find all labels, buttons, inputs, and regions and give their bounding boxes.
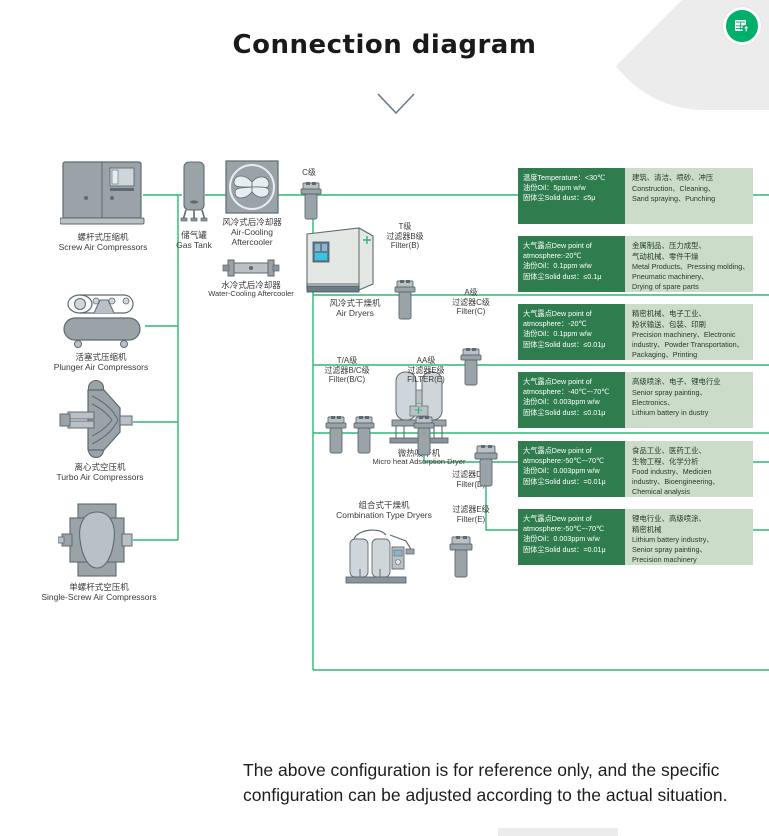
spec-right-6: 锂电行业、高级喷涂、 精密机械 Lithium battery industry… bbox=[625, 509, 753, 565]
spec-right-1: 建筑、清洁、喷砂、冲压 Construction、Cleaning、 Sand … bbox=[625, 168, 753, 224]
label-filter-c-grade: C级 bbox=[288, 168, 330, 178]
label-filter-b: T级 过滤器B级 Filter(B) bbox=[374, 222, 436, 251]
caption-cn: 风冷式干燥机 bbox=[312, 298, 398, 308]
spec-app-en: Sand spraying、Punching bbox=[632, 194, 753, 204]
spec-app-en: Packaging、Printing bbox=[632, 350, 753, 360]
filter-en: FILTER(E) bbox=[396, 375, 456, 385]
filter-grade: T级 bbox=[374, 222, 436, 232]
caption-turbo-air-compressor: 离心式空压机 Turbo Air Compressors bbox=[44, 462, 156, 482]
filter-en: Filter(B) bbox=[374, 241, 436, 251]
spec-app-en: Drying of spare parts bbox=[632, 282, 753, 292]
filter-cn: 过滤器B/C级 bbox=[312, 366, 382, 376]
spec-line: 大气露点Dew point of bbox=[523, 446, 625, 456]
caption-screw-air-compressor: 螺杆式压缩机 Screw Air Compressors bbox=[48, 232, 158, 252]
label-filter-e-aa: AA级 过滤器E级 FILTER(E) bbox=[396, 356, 456, 385]
equipment-air-dryer bbox=[305, 222, 375, 294]
spec-line: 油份Oil：0.003ppm w/w bbox=[523, 534, 625, 544]
spec-app-cn: 食品工业、医药工业、 bbox=[632, 446, 753, 457]
filter-grade: AA级 bbox=[396, 356, 456, 366]
spec-line: 油份Oil：0.003ppm w/w bbox=[523, 397, 625, 407]
spec-left-6: 大气露点Dew point of atmosphere:-50℃~-70℃ 油份… bbox=[518, 509, 625, 565]
spec-line: atmosphere:-50℃~-70℃ bbox=[523, 456, 625, 466]
spec-line: 油份Oil：0.003ppm w/w bbox=[523, 466, 625, 476]
caption-en: Single-Screw Air Compressors bbox=[32, 592, 166, 602]
equipment-filter-e bbox=[449, 536, 473, 580]
spec-line: 大气露点Dew point of bbox=[523, 309, 625, 319]
spec-line: atmosphere:-20℃ bbox=[523, 251, 625, 261]
spec-line: 温度Temperature：<30℃ bbox=[523, 173, 625, 183]
spec-app-en: Electronics、 bbox=[632, 398, 753, 408]
equipment-filter-c bbox=[460, 348, 482, 388]
spec-right-5: 食品工业、医药工业、 生物工程、化学分析 Food industry、Medic… bbox=[625, 441, 753, 497]
spec-box-2: 大气露点Dew point of atmosphere:-20℃ 油份Oil：0… bbox=[518, 236, 753, 292]
spec-line: 固体尘Solid dust：=0.01μ bbox=[523, 545, 625, 555]
spec-app-en: industry、Bioengineering、 bbox=[632, 477, 753, 487]
filter-en: Filter(B/C) bbox=[312, 375, 382, 385]
spec-line: atmosphere：-40℃~-70℃ bbox=[523, 387, 625, 397]
chevron-down-icon bbox=[376, 92, 416, 116]
spec-line: 油份Oil：5ppm w/w bbox=[523, 183, 625, 193]
caption-combination-type-dryer: 组合式干燥机 Combination Type Dryers bbox=[326, 500, 442, 520]
spec-left-5: 大气露点Dew point of atmosphere:-50℃~-70℃ 油份… bbox=[518, 441, 625, 497]
spec-left-1: 温度Temperature：<30℃ 油份Oil：5ppm w/w 固体尘Sol… bbox=[518, 168, 625, 224]
spec-right-3: 精密机械、电子工业、 粉状输送、包装、印刷 Precision machiner… bbox=[625, 304, 753, 360]
equipment-combination-type-dryer bbox=[340, 525, 428, 587]
spec-app-en: Precision machinery bbox=[632, 555, 753, 565]
filter-cn: 过滤器E级 bbox=[440, 505, 502, 515]
spec-app-en: industry、Powder Transportation、 bbox=[632, 340, 753, 350]
spec-line: 固体尘Solid dust：=0.01μ bbox=[523, 477, 625, 487]
filter-en: Filter(E) bbox=[440, 515, 502, 525]
spec-right-2: 金属制品、压力成型、 气动机械、零件干燥 Metal Products、Pres… bbox=[625, 236, 753, 292]
spec-line: 油份Oil：0.1ppm w/w bbox=[523, 329, 625, 339]
spec-app-en: Senior spray painting、 bbox=[632, 545, 753, 555]
equipment-filter-d bbox=[474, 445, 498, 489]
filter-cn: 过滤器C级 bbox=[440, 298, 502, 308]
spec-app-en: Precision machinery、Electronic bbox=[632, 330, 753, 340]
caption-cn: 离心式空压机 bbox=[44, 462, 156, 472]
spec-app-cn: 建筑、清洁、喷砂、冲压 bbox=[632, 173, 753, 184]
spec-line: 固体尘Solid dust：≤0.1μ bbox=[523, 272, 625, 282]
filter-grade: C级 bbox=[288, 168, 330, 178]
spec-line: 固体尘Solid dust：≤0.01μ bbox=[523, 408, 625, 418]
caption-en: Water-Cooling Aftercooler bbox=[186, 290, 316, 299]
spec-line: atmosphere:-50℃~-70℃ bbox=[523, 524, 625, 534]
caption-cn: 活塞式压缩机 bbox=[42, 352, 160, 362]
equipment-filter-b-unit bbox=[325, 416, 347, 456]
caption-en: Combination Type Dryers bbox=[326, 510, 442, 520]
spec-left-2: 大气露点Dew point of atmosphere:-20℃ 油份Oil：0… bbox=[518, 236, 625, 292]
equipment-single-screw-air-compressor bbox=[58, 500, 136, 580]
caption-air-cooling-aftercooler: 风冷式后冷却器 Air-Cooling Aftercooler bbox=[206, 217, 298, 247]
spec-box-3: 大气露点Dew point of atmosphere：-20℃ 油份Oil：0… bbox=[518, 304, 753, 360]
footer-decorative-strip bbox=[498, 828, 618, 836]
label-filter-bc: T/A级 过滤器B/C级 Filter(B/C) bbox=[312, 356, 382, 385]
caption-cn: 组合式干燥机 bbox=[326, 500, 442, 510]
spec-right-4: 高级喷涂、电子、锂电行业 Senior spray painting、 Elec… bbox=[625, 372, 753, 428]
equipment-turbo-air-compressor bbox=[58, 380, 136, 460]
spec-left-4: 大气露点Dew point of atmosphere：-40℃~-70℃ 油份… bbox=[518, 372, 625, 428]
equipment-water-cooling-aftercooler bbox=[222, 258, 280, 280]
spec-box-6: 大气露点Dew point of atmosphere:-50℃~-70℃ 油份… bbox=[518, 509, 753, 565]
spec-app-en: Pneumatic machinery、 bbox=[632, 272, 753, 282]
equipment-plunger-air-compressor bbox=[58, 288, 146, 350]
spec-app-en: Construction、Cleaning、 bbox=[632, 184, 753, 194]
spec-line: 固体尘Solid dust：≤5μ bbox=[523, 193, 625, 203]
filter-cn: 过滤器B级 bbox=[374, 232, 436, 242]
spec-line: 油份Oil：0.1ppm w/w bbox=[523, 261, 625, 271]
spec-box-5: 大气露点Dew point of atmosphere:-50℃~-70℃ 油份… bbox=[518, 441, 753, 497]
spec-app-cn: 锂电行业、高级喷涂、 bbox=[632, 514, 753, 525]
filter-cn: 过滤器E级 bbox=[396, 366, 456, 376]
spec-line: 大气露点Dew point of bbox=[523, 241, 625, 251]
spec-app-cn: 精密机械、电子工业、 bbox=[632, 309, 753, 320]
caption-single-screw-air-compressor: 单螺杆式空压机 Single-Screw Air Compressors bbox=[32, 582, 166, 602]
equipment-filter-c-grade bbox=[300, 182, 322, 222]
spec-app-cn: 精密机械 bbox=[632, 525, 753, 536]
caption-cn: 螺杆式压缩机 bbox=[48, 232, 158, 242]
spec-app-cn: 气动机械、零件干燥 bbox=[632, 252, 753, 263]
spec-line: atmosphere：-20℃ bbox=[523, 319, 625, 329]
footer-note: The above configuration is for reference… bbox=[243, 758, 759, 809]
equipment-filter-e-aa bbox=[413, 416, 435, 458]
spec-line: 大气露点Dew point of bbox=[523, 514, 625, 524]
spec-app-en: Lithium battery in dustry bbox=[632, 408, 753, 418]
caption-en: Turbo Air Compressors bbox=[44, 472, 156, 482]
caption-en: Plunger Air Compressors bbox=[42, 362, 160, 372]
spec-app-cn: 生物工程、化学分析 bbox=[632, 457, 753, 468]
spec-app-en: Food industry、Medicien bbox=[632, 467, 753, 477]
spec-app-en: Lithium battery industry、 bbox=[632, 535, 753, 545]
caption-en: Screw Air Compressors bbox=[48, 242, 158, 252]
caption-en: Air-Cooling bbox=[206, 227, 298, 237]
label-filter-e: 过滤器E级 Filter(E) bbox=[440, 505, 502, 524]
spec-line: 固体尘Solid dust：≤0.01μ bbox=[523, 340, 625, 350]
spec-app-cn: 金属制品、压力成型、 bbox=[632, 241, 753, 252]
caption-water-cooling-aftercooler: 水冷式后冷却器 Water-Cooling Aftercooler bbox=[186, 280, 316, 299]
page-header: Connection diagram bbox=[0, 0, 769, 140]
spec-box-1: 温度Temperature：<30℃ 油份Oil：5ppm w/w 固体尘Sol… bbox=[518, 168, 753, 224]
label-filter-c: A级 过滤器C级 Filter(C) bbox=[440, 288, 502, 317]
caption-cn: 风冷式后冷却器 bbox=[206, 217, 298, 227]
spec-app-en: Metal Products、Pressing molding、 bbox=[632, 262, 753, 272]
page-title: Connection diagram bbox=[0, 30, 769, 60]
equipment-filter-b bbox=[394, 280, 416, 322]
caption-en-2: Aftercooler bbox=[206, 237, 298, 247]
equipment-air-cooling-aftercooler bbox=[225, 160, 279, 214]
caption-en: Air Dryers bbox=[312, 308, 398, 318]
spec-app-en: Senior spray painting、 bbox=[632, 388, 753, 398]
filter-en: Filter(C) bbox=[440, 307, 502, 317]
equipment-screw-air-compressor bbox=[60, 160, 145, 230]
filter-grade: T/A级 bbox=[312, 356, 382, 366]
spec-app-en: Chemical analysis bbox=[632, 487, 753, 497]
spec-app-cn: 高级喷涂、电子、锂电行业 bbox=[632, 377, 753, 388]
caption-cn: 单螺杆式空压机 bbox=[32, 582, 166, 592]
spec-box-4: 大气露点Dew point of atmosphere：-40℃~-70℃ 油份… bbox=[518, 372, 753, 428]
spec-line: 大气露点Dew point of bbox=[523, 377, 625, 387]
caption-en: Micro heat Adsorption Dryer bbox=[358, 458, 480, 467]
filter-grade: A级 bbox=[440, 288, 502, 298]
spec-app-cn: 粉状输送、包装、印刷 bbox=[632, 320, 753, 331]
connection-diagram: 螺杆式压缩机 Screw Air Compressors 储气罐 Gas Tan… bbox=[0, 140, 769, 740]
caption-plunger-air-compressor: 活塞式压缩机 Plunger Air Compressors bbox=[42, 352, 160, 372]
caption-air-dryer: 风冷式干燥机 Air Dryers bbox=[312, 298, 398, 318]
spec-left-3: 大气露点Dew point of atmosphere：-20℃ 油份Oil：0… bbox=[518, 304, 625, 360]
